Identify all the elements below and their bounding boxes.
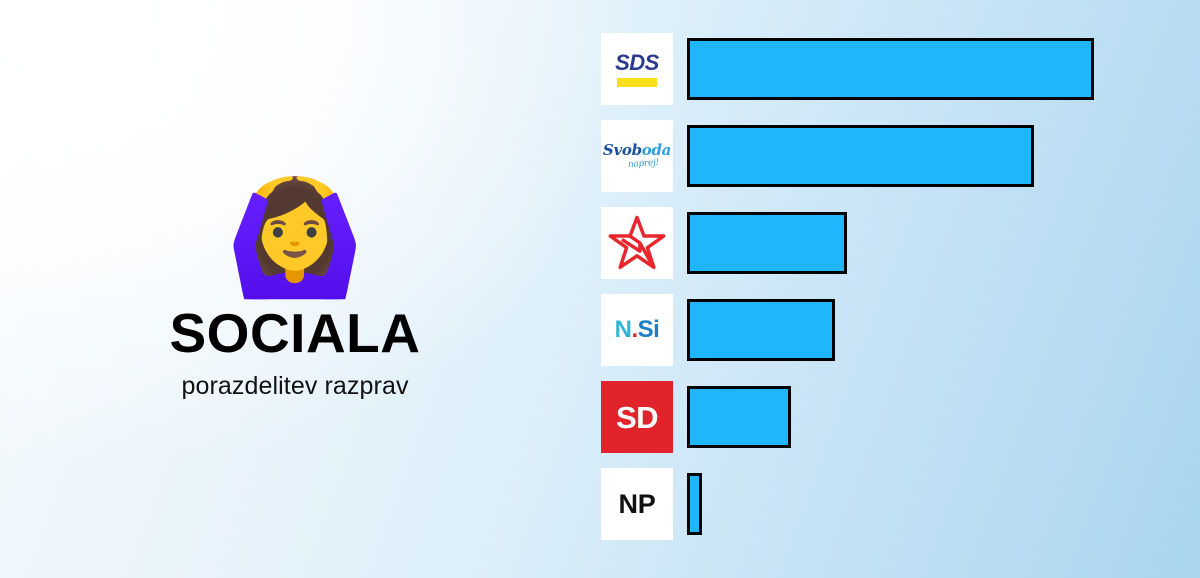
bar-chart: SDS Svoboda naprej! N.Si <box>601 33 1161 553</box>
svoboda-logo-tagline: naprej! <box>627 159 658 170</box>
bar-row-sd: SD <box>601 381 791 453</box>
bar-sds <box>687 38 1094 100</box>
sd-logo-text: SD <box>616 402 658 433</box>
page-subtitle: porazdelitev razprav <box>181 372 408 401</box>
sds-logo: SDS <box>601 33 673 105</box>
bar-nsi <box>687 299 835 361</box>
bar-np <box>687 473 702 535</box>
woman-gesturing-ok-icon: 🙆‍♀️ <box>225 177 364 299</box>
bar-svoboda <box>687 125 1034 187</box>
bar-sd <box>687 386 791 448</box>
bar-row-sds: SDS <box>601 33 1094 105</box>
np-logo-text: NP <box>619 491 656 518</box>
sds-logo-accent-bar <box>617 78 657 87</box>
svoboda-logo: Svoboda naprej! <box>601 120 673 192</box>
star-icon <box>608 215 666 271</box>
levica-logo <box>601 207 673 279</box>
nsi-letter-n: N <box>615 318 632 342</box>
bar-row-svoboda: Svoboda naprej! <box>601 120 1034 192</box>
bar-row-levica <box>601 207 847 279</box>
nsi-letters-si: Si <box>638 318 660 342</box>
page-title: SOCIALA <box>170 305 421 363</box>
nsi-logo: N.Si <box>601 294 673 366</box>
bar-row-np: NP <box>601 468 702 540</box>
bar-levica <box>687 212 847 274</box>
sd-logo: SD <box>601 381 673 453</box>
sds-logo-text: SDS <box>615 52 659 74</box>
branding-panel: 🙆‍♀️ SOCIALA porazdelitev razprav <box>0 0 590 578</box>
svoboda-logo-text: Svoboda <box>603 143 671 158</box>
np-logo: NP <box>601 468 673 540</box>
nsi-logo-text: N.Si <box>615 318 660 342</box>
emoji-glyph: 🙆‍♀️ <box>225 182 364 294</box>
bar-row-nsi: N.Si <box>601 294 835 366</box>
